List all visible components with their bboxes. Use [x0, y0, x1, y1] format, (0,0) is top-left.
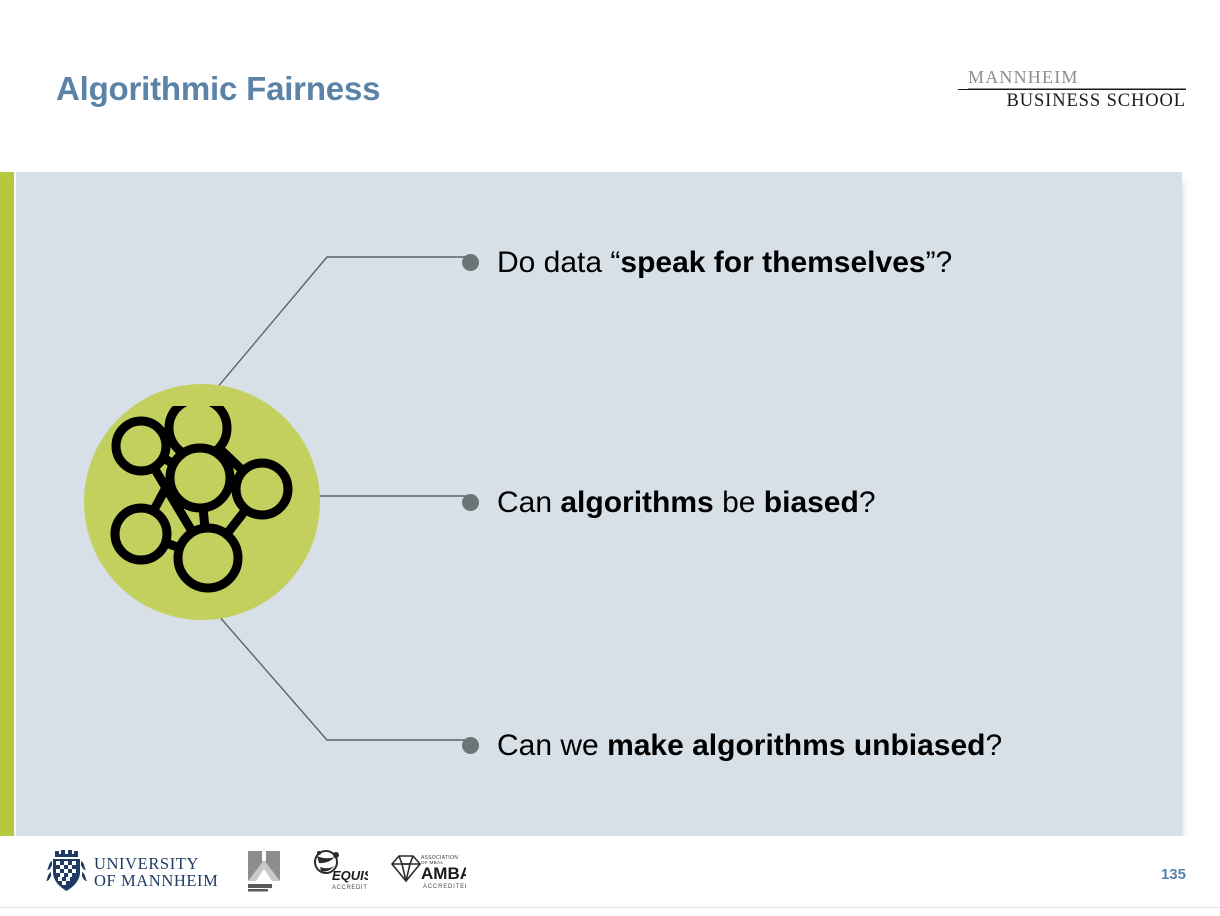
equis-mark-icon: EQUIS ACCREDITED — [312, 850, 368, 894]
amba-mark-icon: ASSOCIATION OF MBAs AMBA ACCREDITED — [388, 850, 466, 894]
footer-divider — [0, 907, 1220, 908]
university-wordmark-line2: OF MANNHEIM — [94, 872, 218, 889]
svg-text:AMBA: AMBA — [421, 864, 466, 883]
page-number: 135 — [1161, 866, 1186, 883]
mbs-logo-line2: BUSINESS SCHOOL — [958, 89, 1186, 112]
connector-line-bottom — [211, 607, 470, 740]
connector-line-top — [211, 257, 470, 395]
bullet-dot-icon — [462, 254, 479, 271]
svg-text:EQUIS: EQUIS — [332, 868, 368, 883]
bullet-item-2: Can algorithms be biased? — [462, 486, 876, 519]
svg-text:ACCREDITED: ACCREDITED — [423, 884, 466, 890]
mind-map-diagram: Do data “speak for themselves”? Can algo… — [16, 172, 1182, 836]
university-wordmark: UNIVERSITY OF MANNHEIM — [94, 855, 218, 889]
bullet-label-3: Can we make algorithms unbiased? — [497, 729, 1002, 762]
bullet-item-1: Do data “speak for themselves”? — [462, 246, 952, 279]
university-crest-icon — [46, 850, 88, 894]
bullet-label-2: Can algorithms be biased? — [497, 486, 876, 519]
aacsb-mark-icon — [246, 850, 290, 894]
bullet-label-1: Do data “speak for themselves”? — [497, 246, 952, 279]
neural-network-icon — [104, 406, 300, 598]
university-of-mannheim-logo: UNIVERSITY OF MANNHEIM — [46, 850, 218, 894]
left-accent-bar — [0, 172, 14, 836]
network-node-circle — [84, 384, 320, 620]
mbs-logo-line1: MANNHEIM — [968, 68, 1186, 89]
equis-accredited-logo: EQUIS ACCREDITED — [312, 850, 368, 899]
slide-root: Algorithmic Fairness MANNHEIM BUSINESS S… — [0, 0, 1220, 916]
mannheim-business-school-logo: MANNHEIM BUSINESS SCHOOL — [958, 68, 1186, 112]
page-title: Algorithmic Fairness — [56, 70, 380, 108]
slide-footer: UNIVERSITY OF MANNHEIM — [0, 836, 1220, 916]
university-wordmark-line1: UNIVERSITY — [94, 855, 218, 872]
aacsb-accredited-logo — [246, 850, 290, 899]
bullet-dot-icon — [462, 737, 479, 754]
svg-text:ACCREDITED: ACCREDITED — [332, 885, 368, 891]
amba-accredited-logo: ASSOCIATION OF MBAs AMBA ACCREDITED — [388, 850, 466, 899]
bullet-dot-icon — [462, 494, 479, 511]
bullet-item-3: Can we make algorithms unbiased? — [462, 729, 1002, 762]
